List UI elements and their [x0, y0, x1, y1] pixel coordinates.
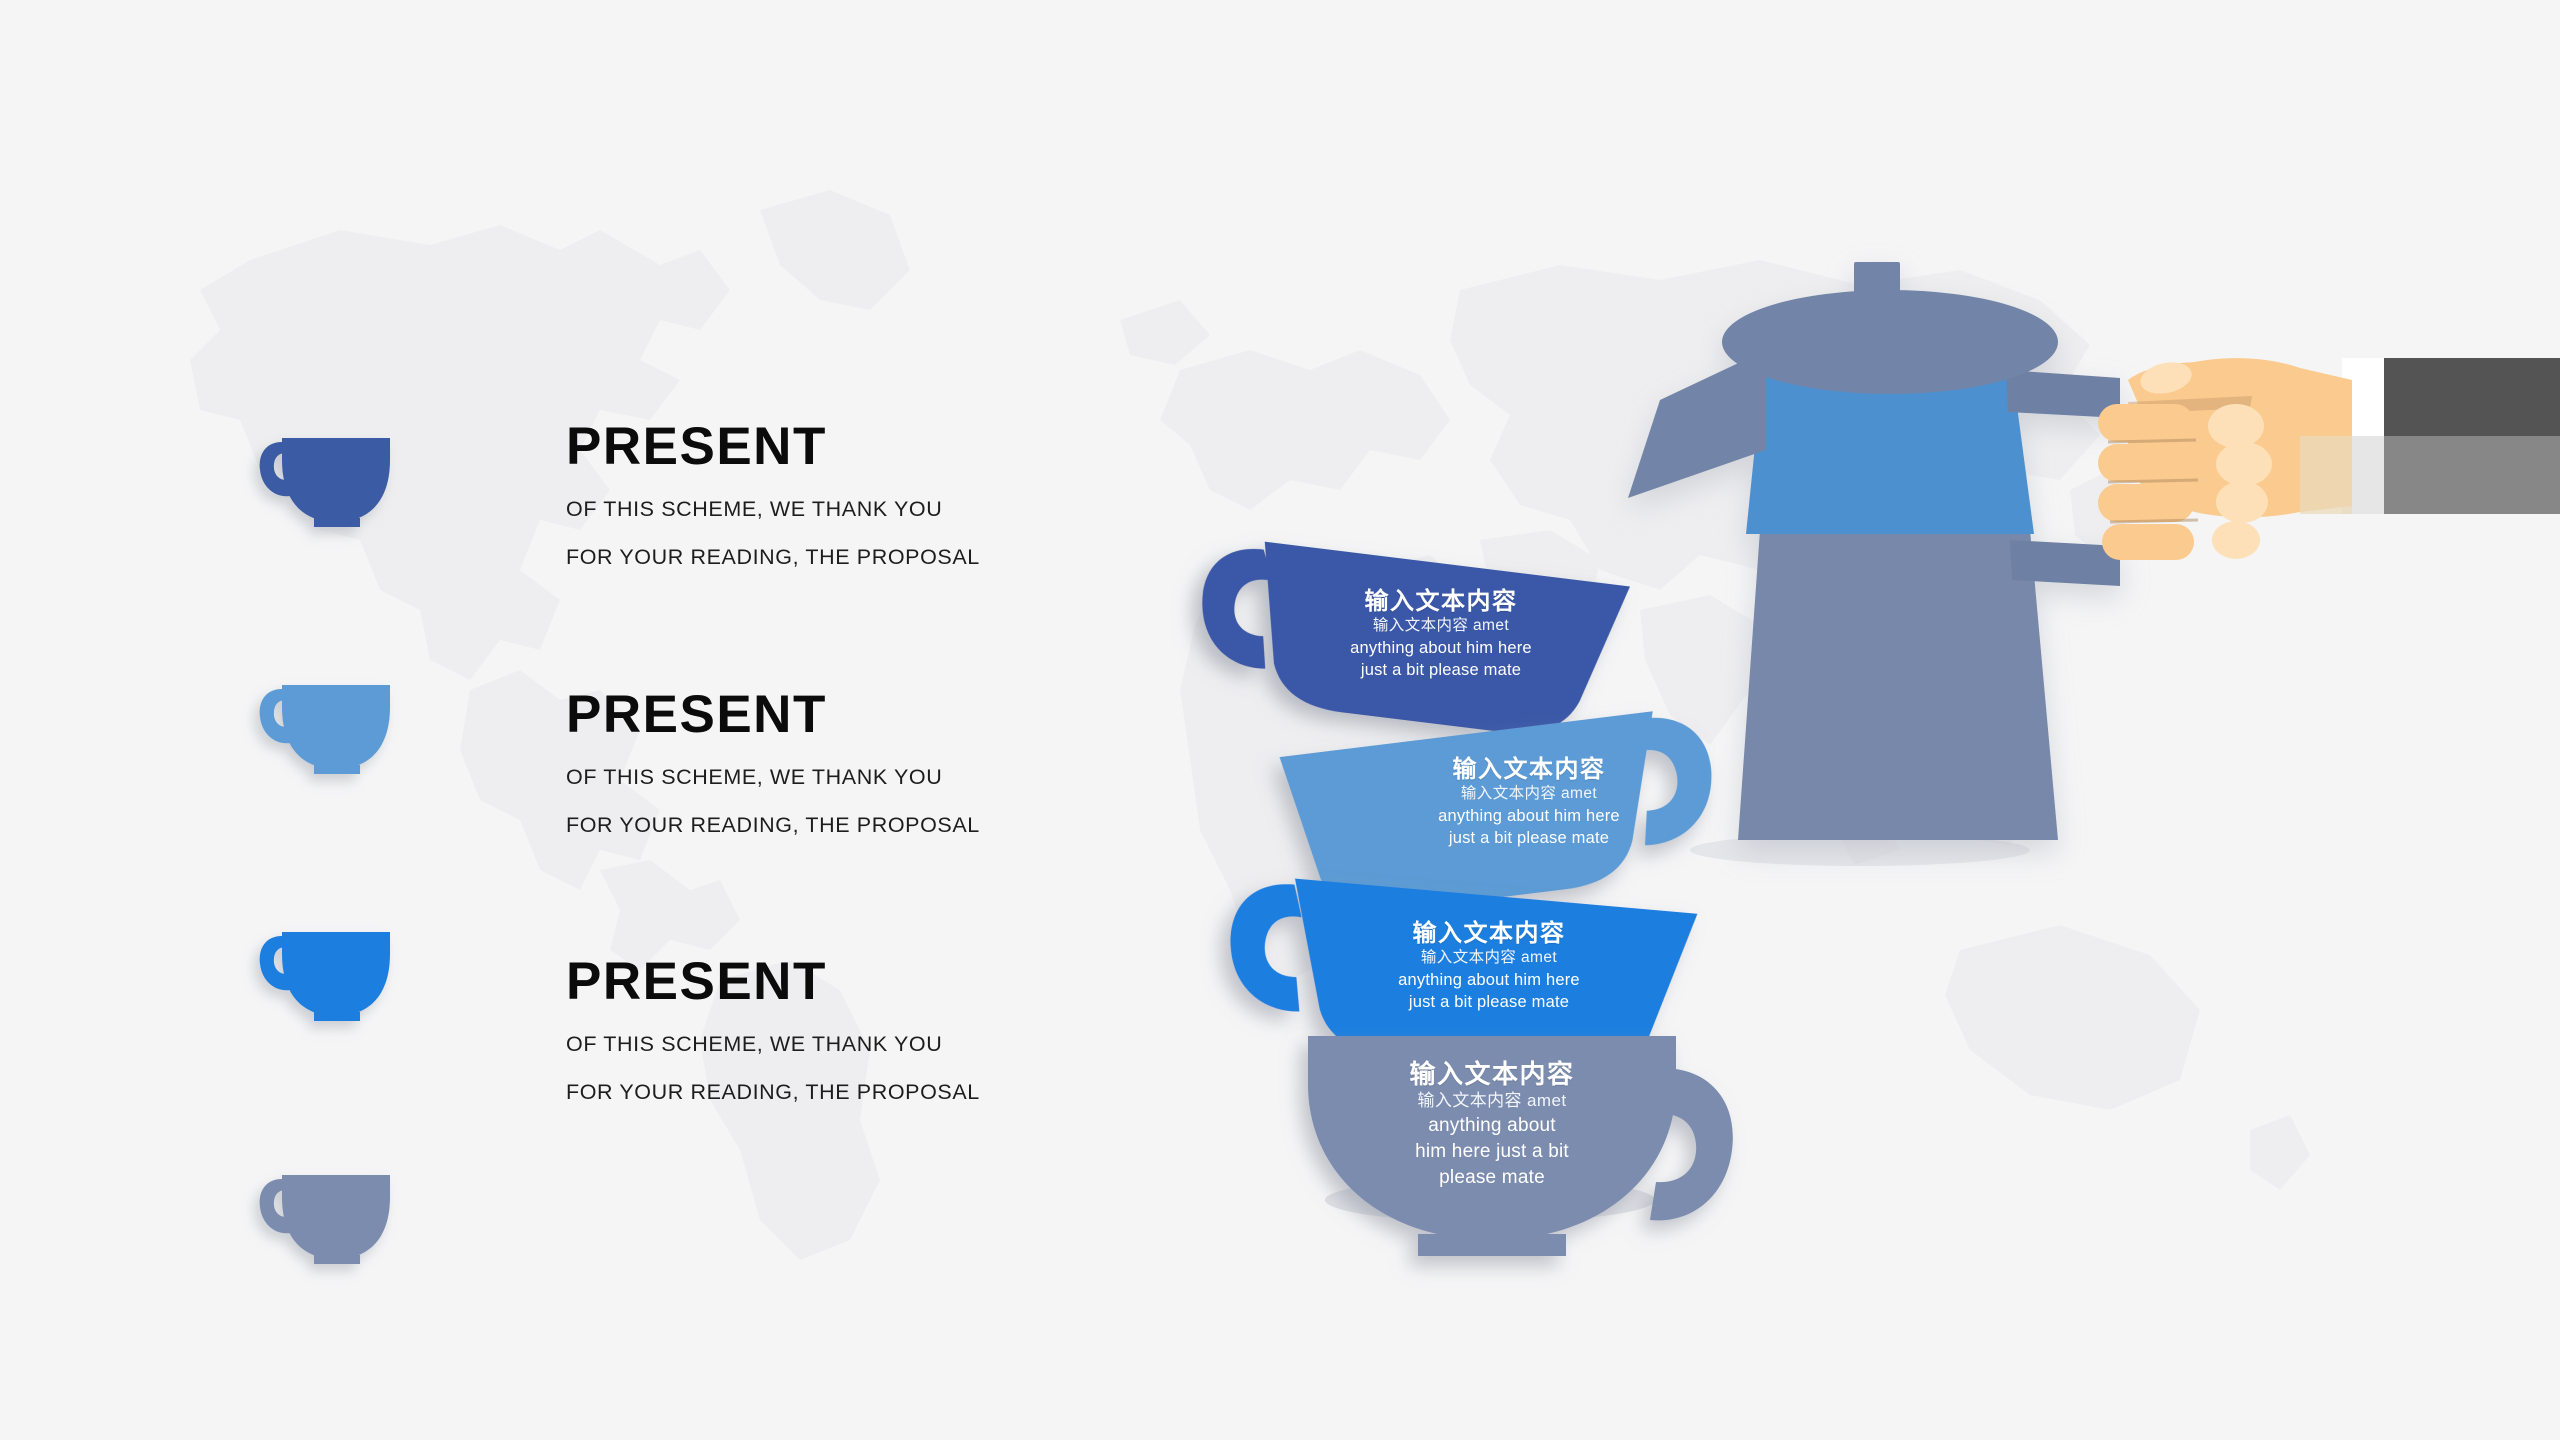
cup-4-line4: please mate [1342, 1165, 1642, 1191]
present-block-3: PRESENT OF THIS SCHEME, WE THANK YOU FOR… [566, 955, 980, 1103]
sleeve-upper [2382, 358, 2560, 436]
present-line2-2: FOR YOUR READING, THE PROPOSAL [566, 815, 980, 837]
present-line2-1: FOR YOUR READING, THE PROPOSAL [566, 547, 980, 569]
coffee-pot-illustration [1600, 250, 2560, 1080]
present-block-1: PRESENT OF THIS SCHEME, WE THANK YOU FOR… [566, 420, 980, 568]
cup-icon-4[interactable] [252, 1155, 402, 1273]
present-title-2: PRESENT [566, 688, 980, 741]
present-line1-3: OF THIS SCHEME, WE THANK YOU [566, 1034, 980, 1056]
pot-spout [1628, 350, 1766, 498]
hand-holding-pot [2098, 358, 2352, 560]
pot-lower-body [1738, 530, 2058, 840]
present-line2-3: FOR YOUR READING, THE PROPOSAL [566, 1082, 980, 1104]
left-content-column: PRESENT OF THIS SCHEME, WE THANK YOU FOR… [0, 0, 1060, 1440]
cup-icon-3[interactable] [252, 912, 402, 1030]
cup-4-line3: him here just a bit [1342, 1139, 1642, 1165]
present-title-3: PRESENT [566, 955, 980, 1008]
sleeve-lower [2382, 436, 2560, 514]
present-line1-2: OF THIS SCHEME, WE THANK YOU [566, 767, 980, 789]
cup-icon-1[interactable] [252, 418, 402, 536]
cup-4-line1: 输入文本内容 amet [1342, 1090, 1642, 1113]
pot-knob [1854, 262, 1900, 324]
cup-4-title: 输入文本内容 [1342, 1060, 1642, 1090]
present-block-2: PRESENT OF THIS SCHEME, WE THANK YOU FOR… [566, 688, 980, 836]
slide-canvas: PRESENT OF THIS SCHEME, WE THANK YOU FOR… [0, 0, 2560, 1440]
present-line1-1: OF THIS SCHEME, WE THANK YOU [566, 499, 980, 521]
stacked-cup-4-label: 输入文本内容 输入文本内容 amet anything about him he… [1342, 1060, 1642, 1191]
cup-icon-2[interactable] [252, 665, 402, 783]
cup-4-line2: anything about [1342, 1113, 1642, 1139]
present-title-1: PRESENT [566, 420, 980, 473]
